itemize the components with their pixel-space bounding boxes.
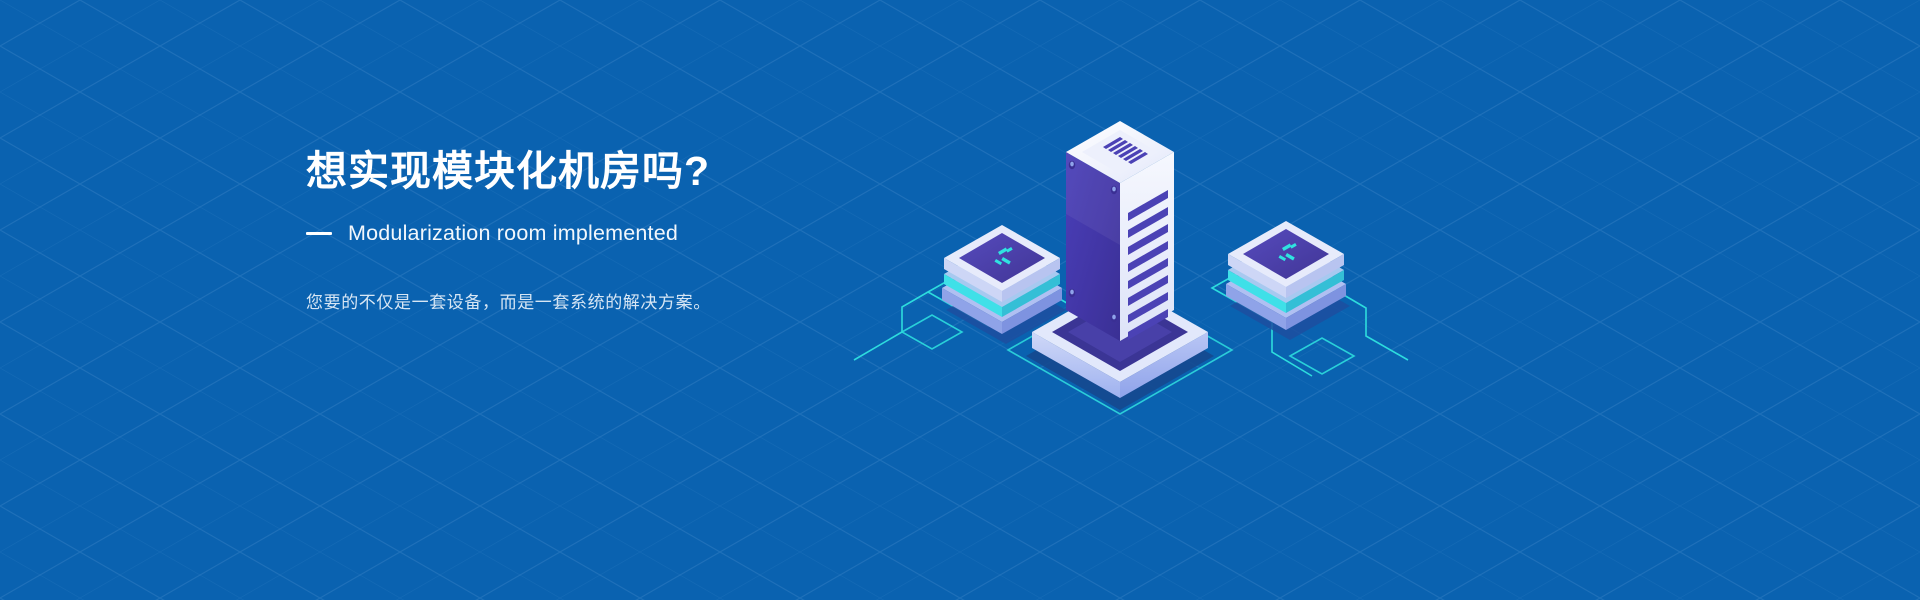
server-tower	[1066, 121, 1174, 341]
isometric-server-room-illustration	[820, 60, 1440, 420]
hero-subtitle: Modularization room implemented	[348, 221, 678, 246]
hero-banner: 想实现模块化机房吗? Modularization room implement…	[0, 0, 1920, 600]
dash-divider-icon	[306, 232, 332, 235]
